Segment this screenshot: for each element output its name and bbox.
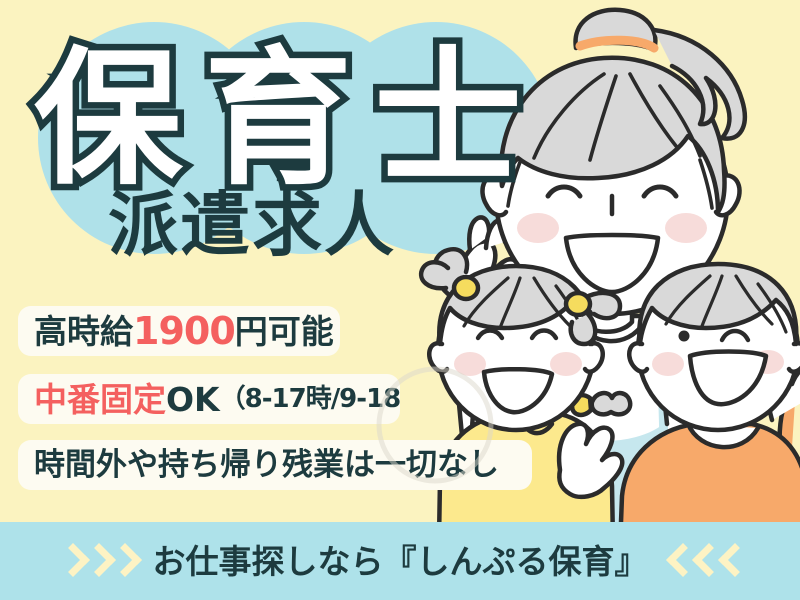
feature-2-ok: OK [166,383,220,416]
banner-text: お仕事探しなら『しんぷる保育』 [153,545,648,578]
chevron-right-icon [85,544,105,578]
chevron-left-icon [696,544,716,578]
chevron-left-icon [670,544,690,578]
feature-1-amount: 1900 [133,312,235,350]
feature-3-text: 時間外や持ち帰り残業は一切なし [34,450,499,481]
title-char-3: 士 [374,45,522,193]
title-char-1: 保 [34,45,182,193]
chevron-right-icon [59,544,79,578]
chevron-left-icon [722,544,742,578]
main-title: 保 育 士 [34,34,554,204]
title-char-2: 育 [204,45,352,193]
left-chevron-group [59,544,131,578]
poster-root: 保 育 士 派遣求人 高時給1900円可能 中番固定OK（8-17時/9-18時… [0,0,800,600]
chevron-right-icon [111,544,131,578]
feature-1-suffix: 円可能 [235,315,334,348]
right-chevron-group [670,544,742,578]
feature-2-hours: （8-17時/9-18時） [220,386,400,412]
bottom-banner: お仕事探しなら『しんぷる保育』 [0,522,800,600]
feature-box-shift-fixed: 中番固定OK（8-17時/9-18時） [18,374,400,424]
feature-2-prefix: 中番固定 [34,383,166,416]
feature-1-prefix: 高時給 [34,315,133,348]
feature-box-no-overtime: 時間外や持ち帰り残業は一切なし [18,440,532,490]
subtitle: 派遣求人 [108,190,396,260]
feature-box-hourly-wage: 高時給1900円可能 [18,306,340,356]
